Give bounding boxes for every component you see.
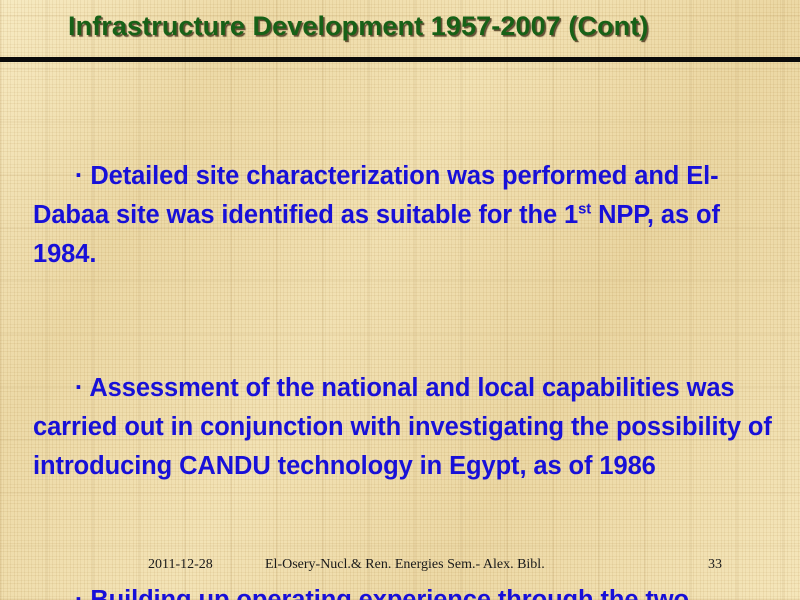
footer-presentation-label: El-Osery-Nucl.& Ren. Energies Sem.- Alex… [265, 557, 545, 573]
footer-page-number: 33 [708, 557, 722, 573]
presentation-slide: Infrastructure Development 1957-2007 (Co… [0, 0, 800, 600]
bullet-superscript: st [578, 202, 591, 218]
slide-title-bar: Infrastructure Development 1957-2007 (Co… [0, 0, 800, 57]
slide-footer: 2011-12-28 El-Osery-Nucl.& Ren. Energies… [0, 556, 800, 582]
footer-date: 2011-12-28 [148, 557, 213, 573]
bullet-item: · Assessment of the national and local c… [33, 330, 781, 525]
bullet-text: Building up operating experience through… [33, 586, 696, 600]
title-divider-rule [0, 57, 800, 62]
bullet-text: Assessment of the national and local cap… [33, 374, 779, 480]
bullet-item: · Detailed site characterization was per… [33, 118, 781, 313]
slide-body: · Detailed site characterization was per… [33, 118, 781, 600]
slide-title: Infrastructure Development 1957-2007 (Co… [68, 11, 648, 42]
